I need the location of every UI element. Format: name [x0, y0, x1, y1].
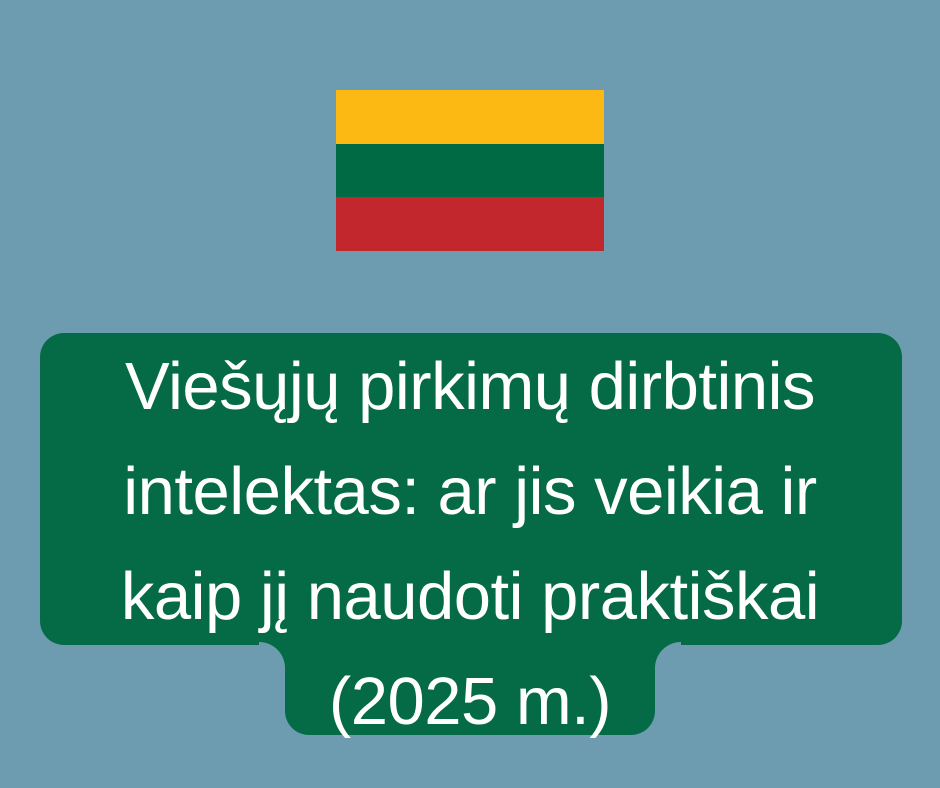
page-title: Viešųjų pirkimų dirbtinis intelektas: ar…: [0, 333, 940, 753]
title-line-4: (2025 m.): [0, 648, 940, 753]
title-block: Viešųjų pirkimų dirbtinis intelektas: ar…: [0, 333, 940, 743]
lithuania-flag-icon: [336, 90, 604, 251]
flag-stripe-red: [336, 197, 604, 251]
title-line-3: kaip jį naudoti praktiškai: [0, 543, 940, 648]
title-line-2: intelektas: ar jis veikia ir: [0, 438, 940, 543]
poster-canvas: Viešųjų pirkimų dirbtinis intelektas: ar…: [0, 0, 940, 788]
title-line-1: Viešųjų pirkimų dirbtinis: [0, 333, 940, 438]
flag-stripe-green: [336, 144, 604, 198]
flag-stripe-yellow: [336, 90, 604, 144]
